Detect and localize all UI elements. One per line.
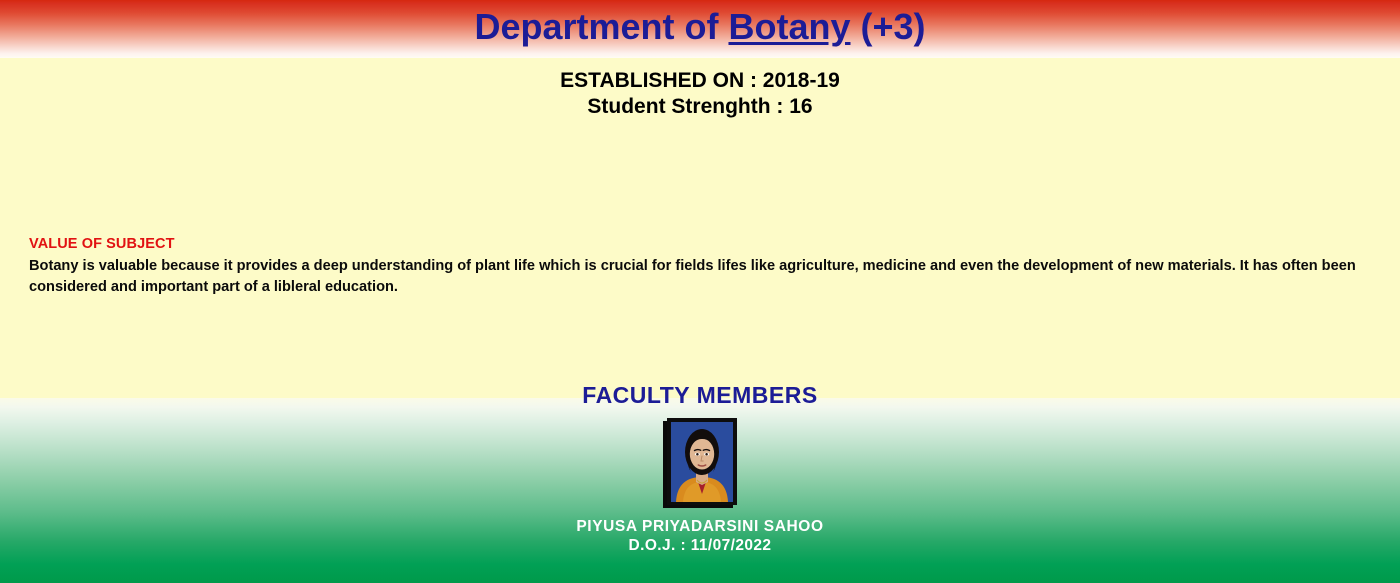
value-of-subject-body: Botany is valuable because it provides a… [29,256,1374,298]
value-of-subject-section: VALUE OF SUBJECT Botany is valuable beca… [29,235,1374,298]
page-title-suffix: (+3) [851,6,926,47]
department-page: Department of Botany (+3) ESTABLISHED ON… [0,0,1400,583]
page-title-prefix: Department of [474,6,728,47]
page-title-subject: Botany [728,6,850,47]
faculty-photo-border [667,418,737,505]
page-title: Department of Botany (+3) [0,6,1400,48]
student-strength-text: Student Strenghth : 16 [0,94,1400,120]
faculty-member-doj: D.O.J. : 11/07/2022 [0,536,1400,555]
department-info: ESTABLISHED ON : 2018-19 Student Strengh… [0,68,1400,120]
faculty-members-heading: FACULTY MEMBERS [0,382,1400,409]
portrait-illustration-icon [671,422,733,502]
established-on-text: ESTABLISHED ON : 2018-19 [0,68,1400,94]
faculty-portrait-photo [671,422,733,502]
value-of-subject-heading: VALUE OF SUBJECT [29,235,1374,253]
faculty-member-card: PIYUSA PRIYADARSINI SAHOO D.O.J. : 11/07… [0,418,1400,555]
faculty-photo-frame [663,418,737,508]
faculty-member-name: PIYUSA PRIYADARSINI SAHOO [0,517,1400,536]
